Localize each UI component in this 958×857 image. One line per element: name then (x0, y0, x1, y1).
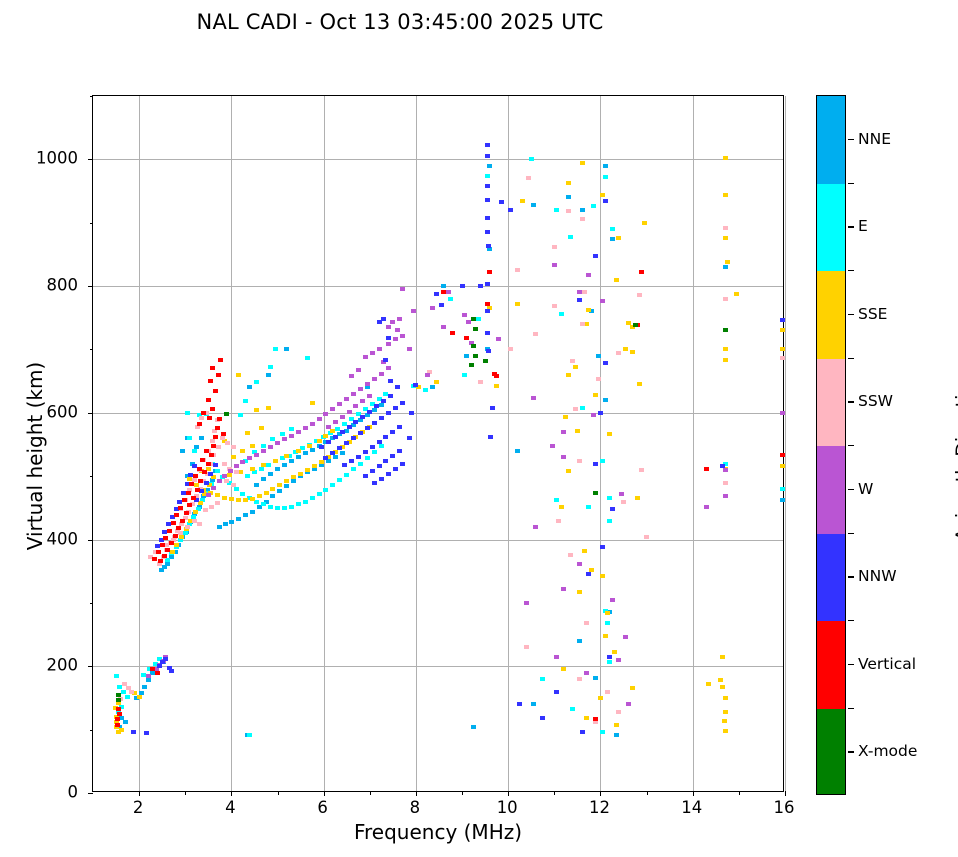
echo-pixel (605, 621, 610, 625)
echo-pixel (178, 506, 183, 510)
echo-pixel (473, 327, 478, 331)
echo-pixel (540, 677, 545, 681)
echo-pixel (289, 505, 294, 509)
echo-pixel (734, 292, 739, 296)
echo-pixel (471, 725, 476, 729)
echo-pixel (483, 359, 488, 363)
echo-pixel (593, 462, 598, 466)
echo-pixel (556, 519, 561, 523)
echo-pixel (289, 459, 294, 463)
echo-pixel (337, 478, 342, 482)
echo-pixel (469, 363, 474, 367)
colorbar-label-sse: SSE (858, 305, 887, 323)
echo-pixel (323, 456, 328, 460)
echo-pixel (600, 299, 605, 303)
ionogram-plot-area (92, 95, 784, 792)
echo-pixel (603, 634, 608, 638)
echo-pixel (330, 451, 335, 455)
echo-pixel (621, 500, 626, 504)
echo-pixel (197, 422, 202, 426)
x-tick-label: 16 (774, 798, 795, 817)
echo-pixel (261, 502, 266, 506)
echo-pixel (221, 432, 226, 436)
echo-pixel (365, 456, 370, 460)
echo-pixel (395, 328, 400, 332)
echo-pixel (723, 265, 728, 269)
echo-pixel (487, 164, 492, 168)
echo-pixel (270, 494, 275, 498)
echo-pixel (515, 302, 520, 306)
echo-pixel (229, 520, 234, 524)
echo-pixel (344, 441, 349, 445)
echo-pixel (485, 216, 490, 220)
echo-pixel (397, 317, 402, 321)
echo-pixel (197, 467, 202, 471)
echo-pixel (607, 496, 612, 500)
echo-pixel (216, 445, 221, 449)
colorbar-label-x-mode: X-mode (858, 742, 917, 760)
echo-pixel (115, 717, 120, 721)
echo-pixel (540, 716, 545, 720)
echo-pixel (206, 462, 211, 466)
echo-pixel (228, 469, 233, 473)
echo-pixel (201, 411, 206, 415)
echo-pixel (704, 505, 709, 509)
echo-pixel (266, 463, 271, 467)
y-tick-label: 200 (0, 656, 78, 675)
echo-pixel (593, 717, 598, 721)
colorbar-tick (848, 401, 854, 402)
echo-pixel (193, 474, 198, 478)
echo-pixel (225, 441, 230, 445)
echo-pixel (563, 415, 568, 419)
x-tick-major (139, 791, 140, 796)
echo-pixel (217, 479, 222, 483)
echo-pixel (723, 494, 728, 498)
echo-pixel (115, 723, 120, 727)
echo-pixel (342, 463, 347, 467)
echo-pixel (486, 349, 491, 353)
echo-pixel (275, 441, 280, 445)
echo-pixel (524, 601, 529, 605)
echo-pixel (204, 481, 209, 485)
echo-pixel (598, 411, 603, 415)
echo-pixel (344, 473, 349, 477)
echo-pixel (300, 446, 305, 450)
echo-pixel (600, 193, 605, 197)
echo-pixel (400, 287, 405, 291)
echo-pixel (203, 508, 208, 512)
echo-pixel (224, 412, 229, 416)
colorbar-tick (848, 751, 854, 752)
echo-pixel (476, 317, 481, 321)
echo-pixel (370, 351, 375, 355)
echo-pixel (593, 393, 598, 397)
echo-pixel (266, 406, 271, 410)
echo-pixel (400, 462, 405, 466)
echo-pixel (400, 334, 405, 338)
echo-pixel (780, 487, 785, 491)
echo-pixel (280, 432, 285, 436)
echo-pixel (296, 502, 301, 506)
echo-pixel (319, 460, 324, 464)
echo-pixel (552, 263, 557, 267)
echo-pixel (252, 470, 257, 474)
echo-pixel (381, 317, 386, 321)
echo-pixel (125, 695, 130, 699)
x-tick-major (785, 791, 786, 796)
echo-pixel (388, 394, 393, 398)
echo-pixel (247, 385, 252, 389)
echo-pixel (616, 710, 621, 714)
echo-pixel (566, 469, 571, 473)
echo-pixel (236, 517, 241, 521)
echo-pixel (250, 467, 255, 471)
echo-pixel (413, 383, 418, 387)
echo-pixel (365, 413, 370, 417)
echo-pixel (400, 401, 405, 405)
echo-pixel (499, 200, 504, 204)
echo-pixel (616, 351, 621, 355)
echo-pixel (209, 453, 214, 457)
echo-pixel (520, 199, 525, 203)
echo-pixel (204, 449, 209, 453)
echo-pixel (561, 430, 566, 434)
x-tick-major (324, 791, 325, 796)
echo-pixel (215, 493, 220, 497)
echo-pixel (344, 429, 349, 433)
echo-pixel (386, 325, 391, 329)
echo-pixel (575, 429, 580, 433)
echo-pixel (174, 543, 179, 547)
echo-pixel (296, 455, 301, 459)
echo-pixel (439, 303, 444, 307)
echo-pixel (243, 513, 248, 517)
y-axis-title: Virtual height (km) (23, 276, 47, 636)
echo-pixel (570, 707, 575, 711)
echo-pixel (593, 676, 598, 680)
echo-pixel (146, 674, 151, 678)
echo-pixel (485, 143, 490, 147)
echo-pixel (586, 308, 591, 312)
echo-pixel (310, 401, 315, 405)
echo-pixel (157, 664, 162, 668)
echo-pixel (261, 463, 266, 467)
echo-pixel (485, 174, 490, 178)
echo-pixel (261, 449, 266, 453)
colorbar-segment-nnw (817, 534, 845, 622)
echo-pixel (298, 472, 303, 476)
colorbar-label-nnw: NNW (858, 567, 897, 585)
echo-pixel (340, 415, 345, 419)
echo-pixel (471, 344, 476, 348)
echo-pixel (351, 436, 356, 440)
echo-pixel (425, 373, 430, 377)
echo-pixel (243, 498, 248, 502)
echo-pixel (116, 707, 121, 711)
echo-pixel (192, 449, 197, 453)
echo-pixel (515, 268, 520, 272)
echo-pixel (275, 467, 280, 471)
x-tick-minor (739, 791, 740, 795)
echo-pixel (187, 503, 192, 507)
x-axis-title: Frequency (MHz) (92, 820, 784, 844)
echo-pixel (206, 398, 211, 402)
echo-pixel (326, 440, 331, 444)
echo-pixel (296, 430, 301, 434)
colorbar-segment-e (817, 184, 845, 272)
echo-pixel (566, 195, 571, 199)
echo-pixel (207, 416, 212, 420)
echo-pixel (340, 451, 345, 455)
echo-pixel (363, 474, 368, 478)
echo-pixel (526, 176, 531, 180)
echo-pixel (494, 384, 499, 388)
echo-pixel (367, 394, 372, 398)
x-tick-label: 8 (410, 798, 421, 817)
echo-pixel (119, 728, 124, 732)
echo-pixel (358, 387, 363, 391)
echo-pixel (566, 209, 571, 213)
echo-pixel (580, 406, 585, 410)
echo-pixel (231, 445, 236, 449)
echo-pixel (291, 475, 296, 479)
echo-pixel (250, 497, 255, 501)
echo-pixel (266, 373, 271, 377)
echo-pixel (462, 373, 467, 377)
echo-pixel (607, 432, 612, 436)
echo-pixel (163, 536, 168, 540)
echo-pixel (485, 282, 490, 286)
x-tick-major (416, 791, 417, 796)
x-tick-minor (554, 791, 555, 795)
colorbar-segment-nne (817, 96, 845, 184)
echo-pixel (193, 510, 198, 514)
echo-pixel (356, 368, 361, 372)
echo-pixel (310, 448, 315, 452)
echo-pixel (573, 407, 578, 411)
colorbar-segment-w (817, 446, 845, 534)
echo-pixel (231, 455, 236, 459)
echo-pixel (333, 420, 338, 424)
echo-pixel (596, 354, 601, 358)
echo-pixel (273, 347, 278, 351)
echo-pixel (178, 531, 183, 535)
echo-pixel (337, 402, 342, 406)
echo-pixel (160, 543, 165, 547)
colorbar-label-w: W (858, 480, 873, 498)
echo-pixel (367, 410, 372, 414)
echo-pixel (305, 356, 310, 360)
echo-pixel (485, 230, 490, 234)
echo-pixel (577, 639, 582, 643)
echo-pixel (586, 505, 591, 509)
echo-pixel (284, 454, 289, 458)
echo-pixel (577, 290, 582, 294)
x-tick-label: 6 (317, 798, 328, 817)
echo-pixel (591, 204, 596, 208)
echo-pixel (386, 411, 391, 415)
echo-pixel (220, 436, 225, 440)
echo-pixel (386, 472, 391, 476)
x-tick-label: 2 (133, 798, 144, 817)
echo-pixel (213, 463, 218, 467)
echo-pixel (363, 355, 368, 359)
echo-pixel (167, 666, 172, 670)
colorbar-tick (848, 489, 854, 490)
colorbar-label-e: E (858, 217, 868, 235)
echo-pixel (208, 379, 213, 383)
echo-pixel (780, 318, 785, 322)
echo-pixel (229, 497, 234, 501)
echo-pixel (723, 347, 728, 351)
echo-pixel (596, 377, 601, 381)
echo-pixel (356, 455, 361, 459)
echo-pixel (379, 403, 384, 407)
echo-pixel (780, 356, 785, 360)
echo-pixel (185, 525, 190, 529)
data-layer (93, 96, 783, 791)
echo-pixel (584, 716, 589, 720)
echo-pixel (165, 548, 170, 552)
echo-pixel (377, 464, 382, 468)
echo-pixel (464, 336, 469, 340)
echo-pixel (612, 650, 617, 654)
echo-pixel (179, 535, 184, 539)
echo-pixel (441, 290, 446, 294)
echo-pixel (639, 270, 644, 274)
echo-pixel (284, 479, 289, 483)
echo-pixel (289, 434, 294, 438)
echo-pixel (573, 365, 578, 369)
echo-pixel (365, 382, 370, 386)
echo-pixel (723, 328, 728, 332)
echo-pixel (450, 331, 455, 335)
echo-pixel (577, 298, 582, 302)
echo-pixel (268, 472, 273, 476)
chart-title: NAL CADI - Oct 13 03:45:00 2025 UTC (0, 10, 800, 34)
echo-pixel (146, 678, 151, 682)
echo-pixel (238, 413, 243, 417)
colorbar-segment-ssw (817, 359, 845, 447)
echo-pixel (261, 477, 266, 481)
echo-pixel (568, 553, 573, 557)
echo-pixel (360, 415, 365, 419)
echo-pixel (723, 156, 728, 160)
echo-pixel (144, 731, 149, 735)
echo-pixel (245, 474, 250, 478)
echo-pixel (213, 389, 218, 393)
echo-pixel (171, 521, 176, 525)
echo-pixel (152, 557, 157, 561)
echo-pixel (381, 399, 386, 403)
echo-pixel (169, 669, 174, 673)
colorbar-boundary-tick (848, 358, 854, 359)
echo-pixel (780, 464, 785, 468)
echo-pixel (222, 462, 227, 466)
echo-pixel (200, 458, 205, 462)
echo-pixel (234, 487, 239, 491)
echo-pixel (639, 468, 644, 472)
echo-pixel (642, 221, 647, 225)
echo-pixel (393, 337, 398, 341)
echo-pixel (720, 655, 725, 659)
echo-pixel (407, 436, 412, 440)
echo-pixel (330, 407, 335, 411)
colorbar-title: Azimuth Direction (952, 276, 958, 636)
echo-pixel (303, 500, 308, 504)
echo-pixel (254, 380, 259, 384)
echo-pixel (610, 227, 615, 231)
echo-pixel (180, 519, 185, 523)
x-tick-major (600, 791, 601, 796)
echo-pixel (614, 733, 619, 737)
colorbar-label-ssw: SSW (858, 392, 893, 410)
echo-pixel (215, 469, 220, 473)
echo-pixel (199, 416, 204, 420)
echo-pixel (223, 522, 228, 526)
echo-pixel (600, 574, 605, 578)
echo-pixel (379, 444, 384, 448)
echo-pixel (184, 511, 189, 515)
echo-pixel (386, 336, 391, 340)
echo-pixel (372, 377, 377, 381)
colorbar-boundary-tick (848, 270, 854, 271)
echo-pixel (208, 472, 213, 476)
echo-pixel (393, 467, 398, 471)
colorbar-segment-x-mode (817, 709, 845, 796)
echo-pixel (561, 587, 566, 591)
x-tick-minor (647, 791, 648, 795)
colorbar-boundary-tick (848, 708, 854, 709)
echo-pixel (186, 491, 191, 495)
echo-pixel (487, 247, 492, 251)
echo-pixel (363, 450, 368, 454)
echo-pixel (358, 462, 363, 466)
echo-pixel (723, 193, 728, 197)
y-tick-label: 0 (0, 783, 78, 802)
echo-pixel (580, 217, 585, 221)
echo-pixel (351, 423, 356, 427)
echo-pixel (550, 444, 555, 448)
echo-pixel (121, 690, 126, 694)
echo-pixel (723, 481, 728, 485)
echo-pixel (377, 440, 382, 444)
echo-pixel (383, 459, 388, 463)
y-tick-major (88, 793, 93, 794)
echo-pixel (614, 723, 619, 727)
echo-pixel (780, 498, 785, 502)
echo-pixel (554, 498, 559, 502)
echo-pixel (307, 444, 312, 448)
x-tick-major (508, 791, 509, 796)
echo-pixel (206, 493, 211, 497)
echo-pixel (531, 396, 536, 400)
echo-pixel (333, 435, 338, 439)
echo-pixel (123, 720, 128, 724)
echo-pixel (635, 496, 640, 500)
echo-pixel (630, 686, 635, 690)
echo-pixel (162, 554, 167, 558)
echo-pixel (614, 278, 619, 282)
echo-pixel (486, 244, 491, 248)
echo-pixel (637, 382, 642, 386)
echo-pixel (780, 453, 785, 457)
echo-pixel (723, 696, 728, 700)
echo-pixel (478, 380, 483, 384)
echo-pixel (409, 411, 414, 415)
echo-pixel (317, 492, 322, 496)
